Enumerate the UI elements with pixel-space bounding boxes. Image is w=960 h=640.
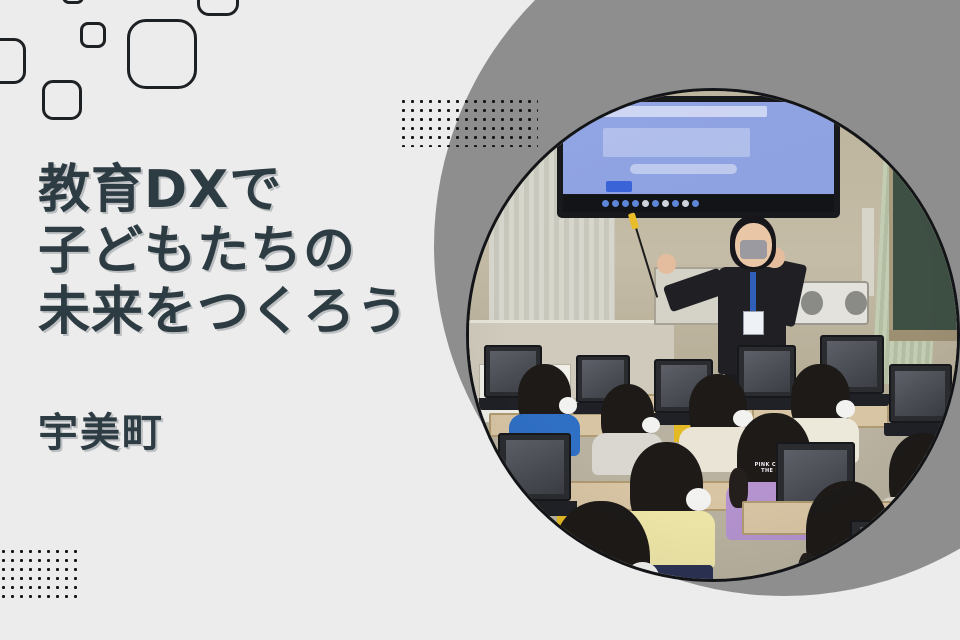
text-block: 教育DXで 子どもたちの 未来をつくろう 宇美町: [38, 160, 468, 458]
rounded-square-decoration: [62, 0, 84, 4]
rounded-square-decoration: [127, 19, 197, 89]
classroom-photo: 10:23: [466, 88, 960, 582]
rounded-square-decoration: [0, 38, 26, 84]
rounded-square-decoration: [197, 0, 239, 16]
photo-vignette: [469, 91, 957, 579]
dot-grid-bottom: [0, 547, 82, 599]
municipality-name: 宇美町: [38, 400, 468, 458]
rounded-square-decoration: [80, 22, 106, 48]
page-title: 教育DXで 子どもたちの 未来をつくろう: [38, 160, 468, 342]
promotional-banner: 10:23: [0, 0, 960, 640]
classroom-photo-inner: 10:23: [469, 91, 957, 579]
rounded-square-decoration: [42, 80, 82, 120]
